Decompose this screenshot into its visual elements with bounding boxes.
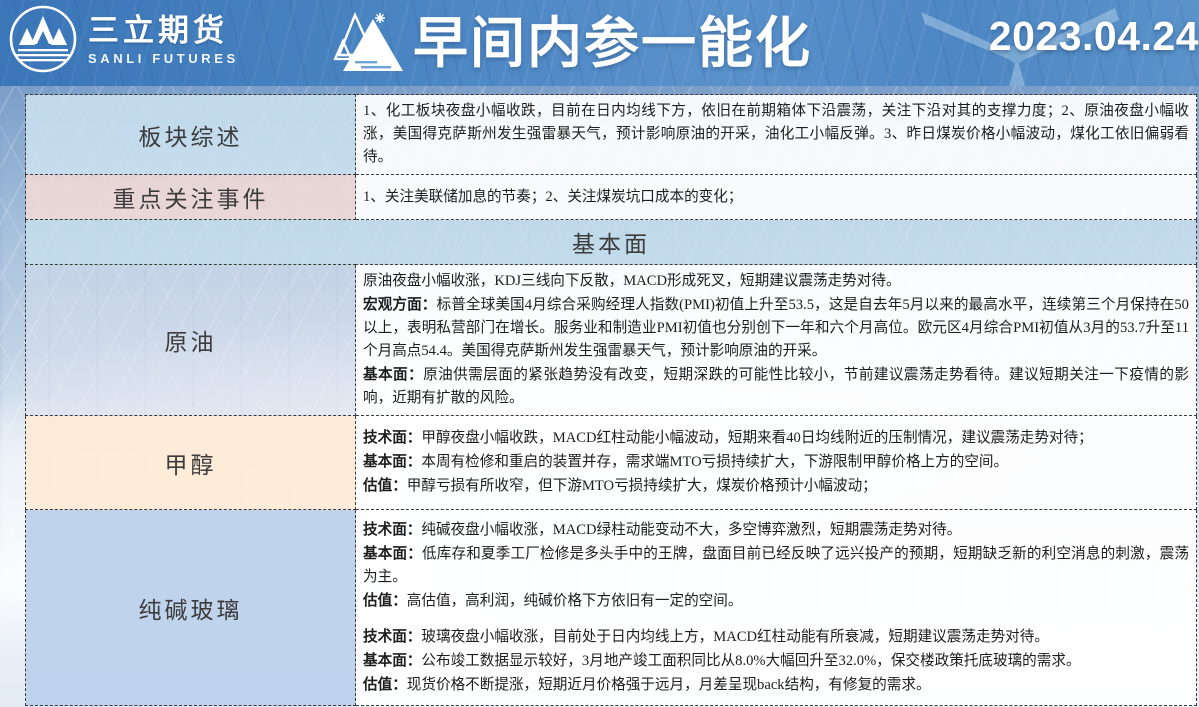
paragraph-tag: 技术面： [363,629,421,645]
paragraph: 技术面：玻璃夜盘小幅收涨，目前处于日内均线上方，MACD红柱动能有所衰减，短期建… [363,626,1189,649]
paragraph-text: 原油供需层面的紧张趋势没有改变，短期深跌的可能性比较小，节前建议震荡走势看待。建… [363,367,1189,406]
page-title: 早间内参一能化 [413,16,812,71]
paragraph-tag: 基本面： [363,653,421,669]
row-content-soda-ash-glass: 技术面：纯碱夜盘小幅收涨，MACD绿柱动能变动不大，多空博弈激烈，短期震荡走势对… [356,510,1197,706]
row-label-sector-overview: 板块综述 [26,95,356,175]
brand-name-en: SANLI FUTURES [88,51,239,66]
report-date: 2023.04.24 [989,13,1199,60]
paragraph: 原油夜盘小幅收涨，KDJ三线向下反散，MACD形成死叉，短期建议震荡走势对待。 [363,270,1189,293]
paragraph-text: 高估值，高利润，纯碱价格下方依旧有一定的空间。 [407,593,743,609]
headline-block: 早间内参一能化 [333,0,812,86]
paragraph: 基本面：低库存和夏季工厂检修是多头手中的王牌，盘面目前已经反映了远兴投产的预期，… [363,543,1189,589]
table-row: 重点关注事件 1、关注美联储加息的节奏；2、关注煤炭坑口成本的变化； [26,175,1197,220]
row-content-key-events: 1、关注美联储加息的节奏；2、关注煤炭坑口成本的变化； [356,175,1197,220]
snow-mountain-icon [333,11,407,77]
paragraph: 1、关注美联储加息的节奏；2、关注煤炭坑口成本的变化； [363,186,1189,209]
brand-name-cn: 三立期货 [88,14,239,47]
paragraph-tag: 技术面： [363,430,421,446]
paragraph-text: 公布竣工数据显示较好，3月地产竣工面积同比从8.0%大幅回升至32.0%，保交楼… [421,653,1080,669]
paragraph-text: 标普全球美国4月综合采购经理人指数(PMI)初值上升至53.5，这是自去年5月以… [363,297,1189,359]
table-row: 基本面 [26,220,1197,265]
paragraph: 技术面：甲醇夜盘小幅收跌，MACD红柱动能小幅波动，短期来看40日均线附近的压制… [363,427,1189,450]
row-label-crude-oil: 原油 [26,265,356,416]
paragraph-text: 本周有检修和重启的装置并存，需求端MTO亏损持续扩大，下游限制甲醇价格上方的空间… [421,454,1008,470]
row-label-methanol: 甲醇 [26,416,356,510]
brand-block: 三立期货 SANLI FUTURES [8,4,239,74]
paragraph-text: 甲醇亏损有所收窄，但下游MTO亏损持续扩大，煤炭价格预计小幅波动； [407,478,877,494]
paragraph-tag: 基本面： [363,454,421,470]
table-row: 甲醇 技术面：甲醇夜盘小幅收跌，MACD红柱动能小幅波动，短期来看40日均线附近… [26,416,1197,510]
paragraph-text: 玻璃夜盘小幅收涨，目前处于日内均线上方，MACD红柱动能有所衰减，短期建议震荡走… [421,629,1049,645]
table-row: 原油 原油夜盘小幅收涨，KDJ三线向下反散，MACD形成死叉，短期建议震荡走势对… [26,265,1197,416]
paragraph-tag: 宏观方面： [363,297,437,313]
paragraph-tag: 估值： [363,593,407,609]
page-header: 三立期货 SANLI FUTURES 早间内参一能化 202 [0,0,1199,86]
row-content-methanol: 技术面：甲醇夜盘小幅收跌，MACD红柱动能小幅波动，短期来看40日均线附近的压制… [356,416,1197,510]
row-label-soda-ash-glass: 纯碱玻璃 [26,510,356,706]
paragraph-tag: 技术面： [363,522,421,538]
paragraph-group-spacer [363,613,1189,626]
paragraph-tag: 基本面： [363,367,423,383]
paragraph-text: 低库存和夏季工厂检修是多头手中的王牌，盘面目前已经反映了远兴投产的预期，短期缺乏… [363,546,1189,585]
report-table: 板块综述 1、化工板块夜盘小幅收跌，目前在日内均线下方，依旧在前期箱体下沿震荡，… [25,94,1197,706]
paragraph-text: 纯碱夜盘小幅收涨，MACD绿柱动能变动不大，多空博弈激烈，短期震荡走势对待。 [421,522,961,538]
paragraph: 估值：高估值，高利润，纯碱价格下方依旧有一定的空间。 [363,590,1189,613]
section-header-fundamentals: 基本面 [26,220,1197,265]
paragraph-text: 现货价格不断提涨，短期近月价格强于远月，月差呈现back结构，有修复的需求。 [407,677,931,693]
paragraph: 估值：现货价格不断提涨，短期近月价格强于远月，月差呈现back结构，有修复的需求… [363,674,1189,697]
paragraph-tag: 估值： [363,478,407,494]
row-content-sector-overview: 1、化工板块夜盘小幅收跌，目前在日内均线下方，依旧在前期箱体下沿震荡，关注下沿对… [356,95,1197,175]
row-label-key-events: 重点关注事件 [26,175,356,220]
paragraph-text: 原油夜盘小幅收涨，KDJ三线向下反散，MACD形成死叉，短期建议震荡走势对待。 [363,273,901,289]
paragraph-tag: 基本面： [363,546,422,562]
paragraph: 基本面：原油供需层面的紧张趋势没有改变，短期深跌的可能性比较小，节前建议震荡走势… [363,364,1189,410]
table-row: 板块综述 1、化工板块夜盘小幅收跌，目前在日内均线下方，依旧在前期箱体下沿震荡，… [26,95,1197,175]
paragraph-text: 甲醇夜盘小幅收跌，MACD红柱动能小幅波动，短期来看40日均线附近的压制情况，建… [421,430,1092,446]
paragraph: 基本面：公布竣工数据显示较好，3月地产竣工面积同比从8.0%大幅回升至32.0%… [363,650,1189,673]
paragraph-tag: 估值： [363,677,407,693]
paragraph: 基本面：本周有检修和重启的装置并存，需求端MTO亏损持续扩大，下游限制甲醇价格上… [363,451,1189,474]
report-page: 三立期货 SANLI FUTURES 早间内参一能化 202 [0,0,1199,707]
paragraph: 1、化工板块夜盘小幅收跌，目前在日内均线下方，依旧在前期箱体下沿震荡，关注下沿对… [363,100,1189,169]
paragraph: 宏观方面：标普全球美国4月综合采购经理人指数(PMI)初值上升至53.5，这是自… [363,294,1189,363]
row-content-crude-oil: 原油夜盘小幅收涨，KDJ三线向下反散，MACD形成死叉，短期建议震荡走势对待。 … [356,265,1197,416]
report-table-wrapper: 板块综述 1、化工板块夜盘小幅收跌，目前在日内均线下方，依旧在前期箱体下沿震荡，… [25,94,1197,706]
paragraph: 估值：甲醇亏损有所收窄，但下游MTO亏损持续扩大，煤炭价格预计小幅波动； [363,475,1189,498]
paragraph: 技术面：纯碱夜盘小幅收涨，MACD绿柱动能变动不大，多空博弈激烈，短期震荡走势对… [363,519,1189,542]
table-row: 纯碱玻璃 技术面：纯碱夜盘小幅收涨，MACD绿柱动能变动不大，多空博弈激烈，短期… [26,510,1197,706]
mountain-circle-logo-icon [8,4,78,74]
